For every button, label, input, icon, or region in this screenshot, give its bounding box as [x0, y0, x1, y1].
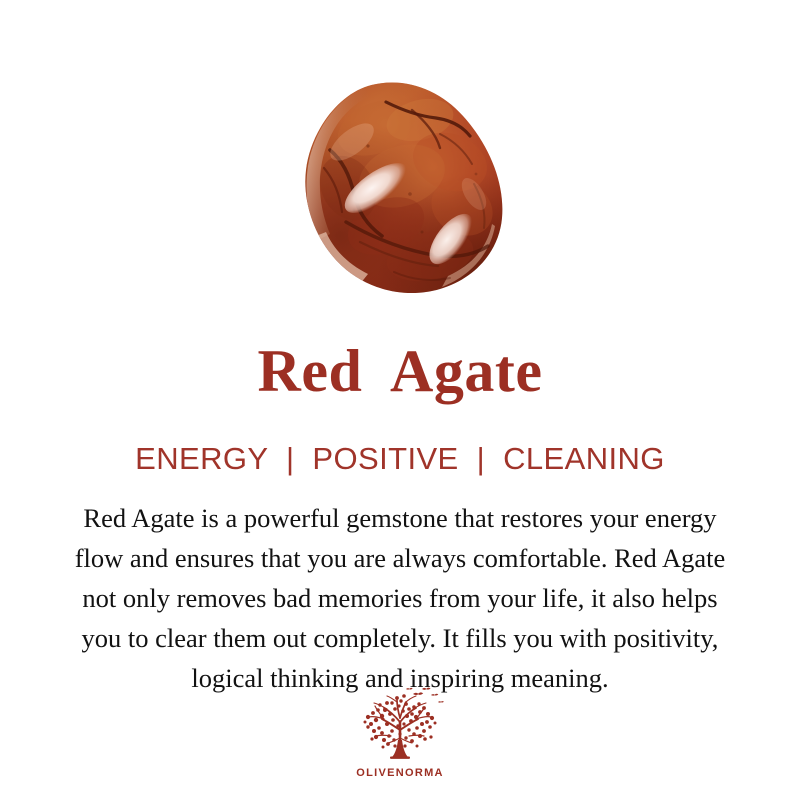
description-line: Red Agate is a powerful gemstone that re…: [18, 498, 782, 538]
brand-wordmark: OLIVENORMA: [330, 766, 470, 780]
page-title: Red Agate: [0, 338, 800, 404]
product-info-card: Red Agate ENERGY | POSITIVE | CLEANING R…: [0, 0, 800, 800]
brand-logo: OLIVENORMA: [330, 686, 470, 780]
product-description: Red Agate is a powerful gemstone that re…: [18, 498, 782, 698]
tree-of-life-with-birds-icon: [354, 686, 446, 764]
product-image-area: [0, 46, 800, 314]
gemstone-image: [290, 76, 518, 298]
product-keywords: ENERGY | POSITIVE | CLEANING: [0, 440, 800, 478]
description-line: flow and ensures that you are always com…: [18, 538, 782, 578]
description-line: not only removes bad memories from your …: [18, 578, 782, 618]
description-line: you to clear them out completely. It fil…: [18, 618, 782, 658]
red-agate-stone-icon: [290, 76, 518, 298]
